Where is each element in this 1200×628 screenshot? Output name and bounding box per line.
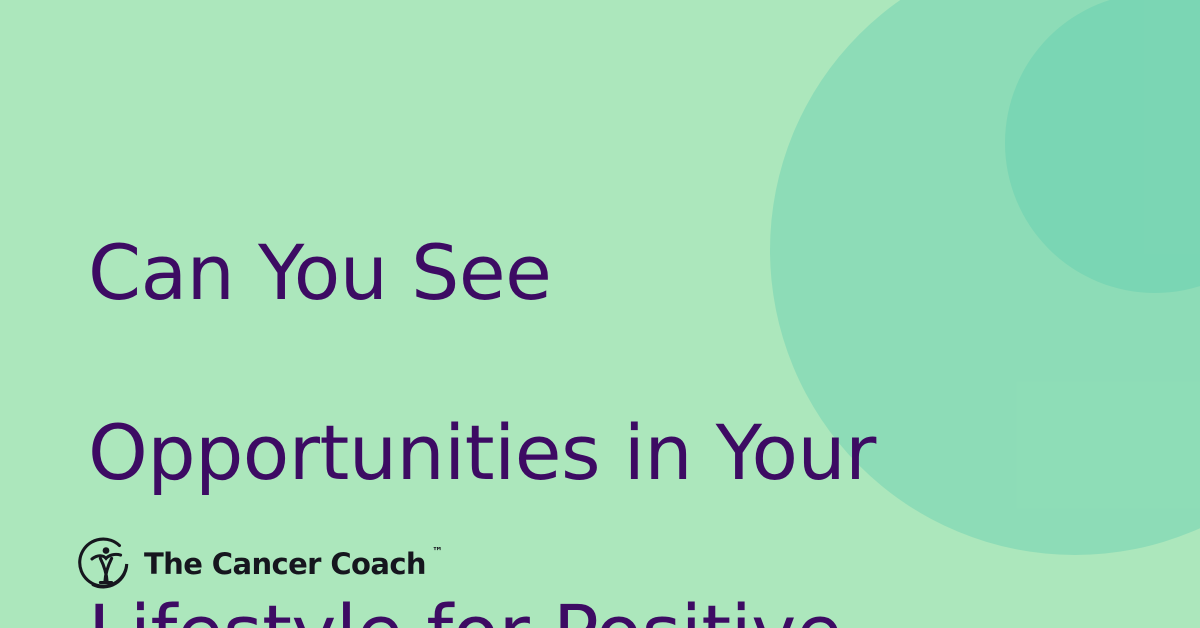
cancer-coach-leaf-figure-icon: [78, 536, 134, 592]
social-share-card: Can You See Opportunities in Your Lifest…: [0, 0, 1200, 628]
headline-line-1: Can You See: [88, 228, 1118, 318]
brand-wordmark: The Cancer Coach ™: [144, 550, 426, 579]
trademark-symbol: ™: [432, 546, 443, 557]
headline-line-3: Lifestyle for Positive: [88, 588, 1118, 628]
headline-line-2: Opportunities in Your: [88, 408, 1118, 498]
brand-wordmark-text: The Cancer Coach: [144, 547, 426, 581]
brand-logo-lockup[interactable]: The Cancer Coach ™: [78, 536, 426, 592]
